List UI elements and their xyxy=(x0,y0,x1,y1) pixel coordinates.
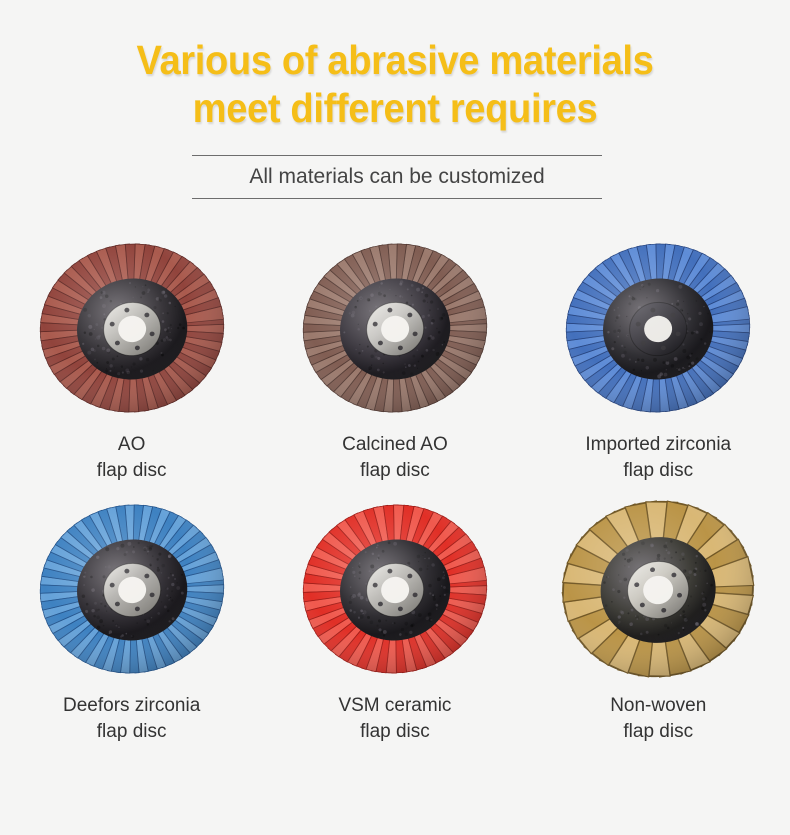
product-grid: AO flap disc Calcined AO flap disc Impor… xyxy=(0,228,790,745)
product-type-3: flap disc xyxy=(63,719,200,745)
disc-image-2 xyxy=(558,228,758,428)
disc-image-1 xyxy=(295,228,495,428)
title-line-2: meet different requires xyxy=(28,84,763,132)
product-type-4: flap disc xyxy=(338,719,451,745)
disc-image-3 xyxy=(32,489,232,689)
disc-image-0 xyxy=(32,228,232,428)
product-name-3: Deefors zirconia xyxy=(63,695,200,716)
product-name-0: AO xyxy=(118,434,145,455)
product-label-5: Non-woven flap disc xyxy=(610,693,706,744)
product-showcase-page: Various of abrasive materials meet diffe… xyxy=(0,0,790,835)
product-label-3: Deefors zirconia flap disc xyxy=(63,693,200,744)
product-card-0[interactable]: AO flap disc xyxy=(0,228,263,483)
product-label-1: Calcined AO flap disc xyxy=(342,432,448,483)
product-card-3[interactable]: Deefors zirconia flap disc xyxy=(0,483,263,744)
subtitle: All materials can be customized xyxy=(192,156,602,198)
product-card-5[interactable]: Non-woven flap disc xyxy=(527,483,790,744)
product-card-2[interactable]: Imported zirconia flap disc xyxy=(527,228,790,483)
subtitle-block: All materials can be customized xyxy=(192,155,602,199)
product-label-4: VSM ceramic flap disc xyxy=(338,693,451,744)
product-type-0: flap disc xyxy=(97,458,167,484)
disc-image-5 xyxy=(558,489,758,689)
disc-image-4 xyxy=(295,489,495,689)
title-line-1: Various of abrasive materials xyxy=(28,36,763,84)
product-name-1: Calcined AO xyxy=(342,434,448,455)
product-row-2: Deefors zirconia flap disc VSM ceramic f… xyxy=(0,483,790,744)
page-title: Various of abrasive materials meet diffe… xyxy=(28,36,763,133)
product-card-1[interactable]: Calcined AO flap disc xyxy=(263,228,526,483)
product-type-2: flap disc xyxy=(585,458,731,484)
product-row-1: AO flap disc Calcined AO flap disc Impor… xyxy=(0,228,790,483)
product-name-5: Non-woven xyxy=(610,695,706,716)
product-label-2: Imported zirconia flap disc xyxy=(585,432,731,483)
product-type-5: flap disc xyxy=(610,719,706,745)
product-type-1: flap disc xyxy=(342,458,448,484)
product-label-0: AO flap disc xyxy=(97,432,167,483)
divider-bottom xyxy=(192,198,602,199)
product-card-4[interactable]: VSM ceramic flap disc xyxy=(263,483,526,744)
product-name-2: Imported zirconia xyxy=(585,434,731,455)
product-name-4: VSM ceramic xyxy=(338,695,451,716)
